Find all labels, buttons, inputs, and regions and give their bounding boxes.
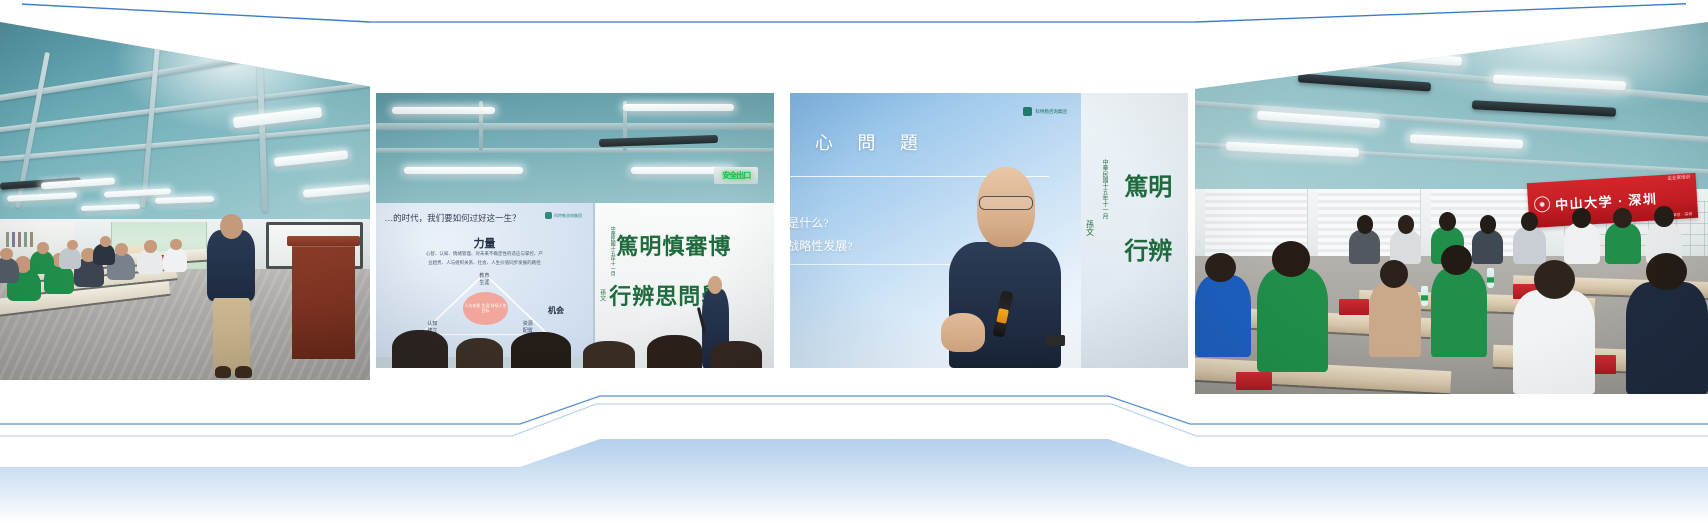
exit-sign: 安全出口 xyxy=(714,167,758,184)
podium xyxy=(292,244,355,359)
slide-logo: 科特勒咨询集团 xyxy=(545,212,582,219)
slide-question-1: 量是什么? xyxy=(790,214,829,231)
university-crest-icon: ✹ xyxy=(1534,196,1551,213)
gallery-photo-audience[interactable]: ✹ 中山大学 · 深圳 企业家培训 指导单位 · 深圳 xyxy=(1195,22,1708,394)
slide-question-2: 到战略性发展? xyxy=(790,237,853,254)
slide-body-line-2: 业趋势、人与组织关系、社会、人生价值同步发展的路径 xyxy=(398,260,572,267)
calligraphy-vertical-small: 中華民國十五年十一月 xyxy=(600,226,614,276)
logo-mark-icon xyxy=(1023,107,1032,116)
instructor-legs xyxy=(213,298,250,373)
floor-gradient xyxy=(0,423,1708,523)
speaker-hand xyxy=(941,313,985,352)
photo-gallery-banner: 安全出口 …的时代，我们要如何过好这一生？ 科特勒咨询集团 力量 心智、认知、情… xyxy=(0,0,1708,523)
calligraphy-line-1: 篤明慎審博 xyxy=(616,229,731,261)
diagram-node-right-label: 机会 xyxy=(528,305,584,316)
slide-logo-text: 科特勒咨询集团 xyxy=(554,214,582,218)
slide-logo: 科特勒咨询集团 xyxy=(1023,107,1067,116)
slide-title: 核 心 問 題 xyxy=(790,129,928,155)
event-banner-subtext: 企业家培训 xyxy=(1668,174,1691,181)
exit-sign-text: 安全出口 xyxy=(722,170,750,181)
calligraphy-line-2: 行辨 xyxy=(1124,231,1172,266)
slide-logo-text: 科特勒咨询集团 xyxy=(1035,109,1067,114)
logo-mark-icon xyxy=(545,212,552,219)
calligraphy-seal: 孫文 xyxy=(1085,220,1096,236)
calligraphy-vertical-small: 中華民國十五年十一月 xyxy=(1100,159,1107,219)
lecturer-head xyxy=(708,276,722,294)
instructor-torso xyxy=(207,230,255,302)
gallery-photo-speaker-closeup[interactable]: 科特勒咨询集团 核 心 問 題 ? 量是什么? 到战略性发展? 中華民國十五年十… xyxy=(790,93,1188,368)
calligraphy-seal: 孫文 xyxy=(598,289,607,301)
eyeglasses-icon xyxy=(979,196,1033,210)
event-banner-text: 中山大学 · 深圳 xyxy=(1555,188,1658,213)
slide-body-line-1: 心智、认知、情绪管理、对未来不确定性的适应与掌控、产 xyxy=(398,251,572,258)
slide-section-title: 力量 xyxy=(376,235,593,251)
wristwatch-icon xyxy=(1045,335,1065,346)
gallery-photo-slide-and-board[interactable]: 安全出口 …的时代，我们要如何过好这一生？ 科特勒咨询集团 力量 心智、认知、情… xyxy=(376,93,774,368)
instructor-head xyxy=(220,214,243,239)
slide-headline: …的时代，我们要如何过好这一生？ xyxy=(385,212,572,224)
calligraphy-line-1: 篤明 xyxy=(1124,167,1172,202)
gallery-photo-classroom-wide[interactable] xyxy=(0,22,370,380)
diagram-node-top: 教育 生涯 xyxy=(467,272,502,286)
diagram-center-circle: 人与本质 生涯 持续人生目标 xyxy=(463,292,509,324)
